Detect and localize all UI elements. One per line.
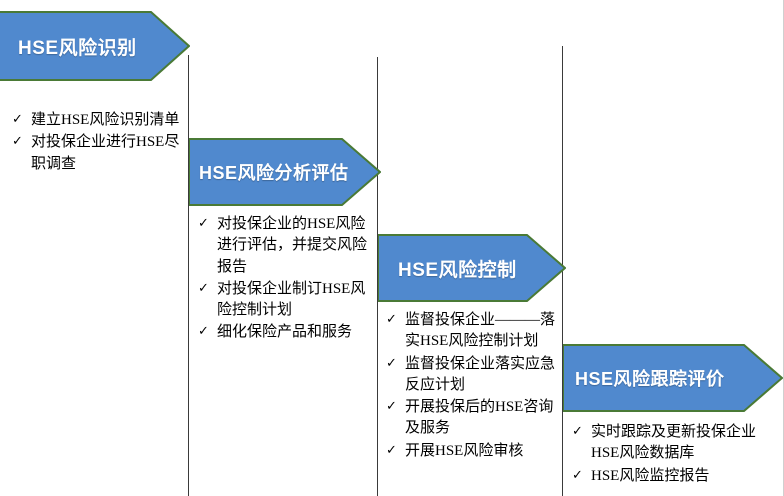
stage-bullets-3: ✓ 监督投保企业———落实HSE风险控制计划 ✓ 监督投保企业落实应急反应计划 … (386, 310, 558, 463)
check-mark-icon: ✓ (198, 214, 217, 234)
check-mark-icon: ✓ (12, 110, 31, 130)
check-mark-icon: ✓ (386, 354, 405, 374)
list-item: ✓ 实时跟踪及更新投保企业HSE风险数据库 (572, 422, 772, 465)
list-item: ✓ 对投保企业制订HSE风险控制计划 (198, 279, 370, 322)
list-item: ✓ 监督投保企业———落实HSE风险控制计划 (386, 310, 558, 353)
list-item-text: 建立HSE风险识别清单 (31, 110, 180, 131)
stage-arrow-1[interactable]: HSE风险识别 (0, 8, 190, 84)
stage-arrow-4[interactable]: HSE风险跟踪评价 (563, 342, 783, 414)
check-mark-icon: ✓ (198, 322, 217, 342)
chevron-shape-icon (563, 342, 783, 414)
stage-arrow-3[interactable]: HSE风险控制 (378, 232, 566, 304)
check-mark-icon: ✓ (12, 132, 31, 152)
list-item-text: 实时跟踪及更新投保企业HSE风险数据库 (591, 422, 772, 465)
list-item: ✓ 开展投保后的HSE咨询及服务 (386, 397, 558, 440)
divider-line-1 (188, 55, 189, 496)
list-item-text: 对投保企业的HSE风险进行评估，并提交风险报告 (217, 214, 370, 278)
check-mark-icon: ✓ (386, 397, 405, 417)
list-item: ✓ 对投保企业的HSE风险进行评估，并提交风险报告 (198, 214, 370, 278)
check-mark-icon: ✓ (572, 422, 591, 442)
list-item: ✓ 监督投保企业落实应急反应计划 (386, 354, 558, 397)
list-item-text: 开展投保后的HSE咨询及服务 (405, 397, 558, 440)
stage-bullets-2: ✓ 对投保企业的HSE风险进行评估，并提交风险报告 ✓ 对投保企业制订HSE风险… (198, 214, 370, 345)
list-item-text: 监督投保企业落实应急反应计划 (405, 354, 558, 397)
list-item-text: 监督投保企业———落实HSE风险控制计划 (405, 310, 558, 353)
list-item-text: 开展HSE风险审核 (405, 441, 558, 462)
list-item-text: 对投保企业进行HSE尽职调查 (31, 132, 180, 175)
check-mark-icon: ✓ (198, 279, 217, 299)
list-item: ✓ 细化保险产品和服务 (198, 322, 370, 343)
list-item: ✓ 对投保企业进行HSE尽职调查 (12, 132, 180, 175)
chevron-shape-icon (189, 136, 381, 208)
stage-bullets-4: ✓ 实时跟踪及更新投保企业HSE风险数据库 ✓ HSE风险监控报告 (572, 422, 772, 488)
check-mark-icon: ✓ (386, 310, 405, 330)
stage-arrow-2[interactable]: HSE风险分析评估 (189, 136, 381, 208)
list-item: ✓ 建立HSE风险识别清单 (12, 110, 180, 131)
check-mark-icon: ✓ (386, 441, 405, 461)
list-item: ✓ HSE风险监控报告 (572, 466, 772, 487)
list-item-text: HSE风险监控报告 (591, 466, 772, 487)
check-mark-icon: ✓ (572, 466, 591, 486)
list-item-text: 对投保企业制订HSE风险控制计划 (217, 279, 370, 322)
process-flow-diagram: HSE风险识别 ✓ 建立HSE风险识别清单 ✓ 对投保企业进行HSE尽职调查 H… (0, 0, 784, 496)
stage-bullets-1: ✓ 建立HSE风险识别清单 ✓ 对投保企业进行HSE尽职调查 (12, 110, 180, 176)
list-item-text: 细化保险产品和服务 (217, 322, 370, 343)
chevron-shape-icon (378, 232, 566, 304)
list-item: ✓ 开展HSE风险审核 (386, 441, 558, 462)
chevron-shape-icon (0, 8, 190, 84)
